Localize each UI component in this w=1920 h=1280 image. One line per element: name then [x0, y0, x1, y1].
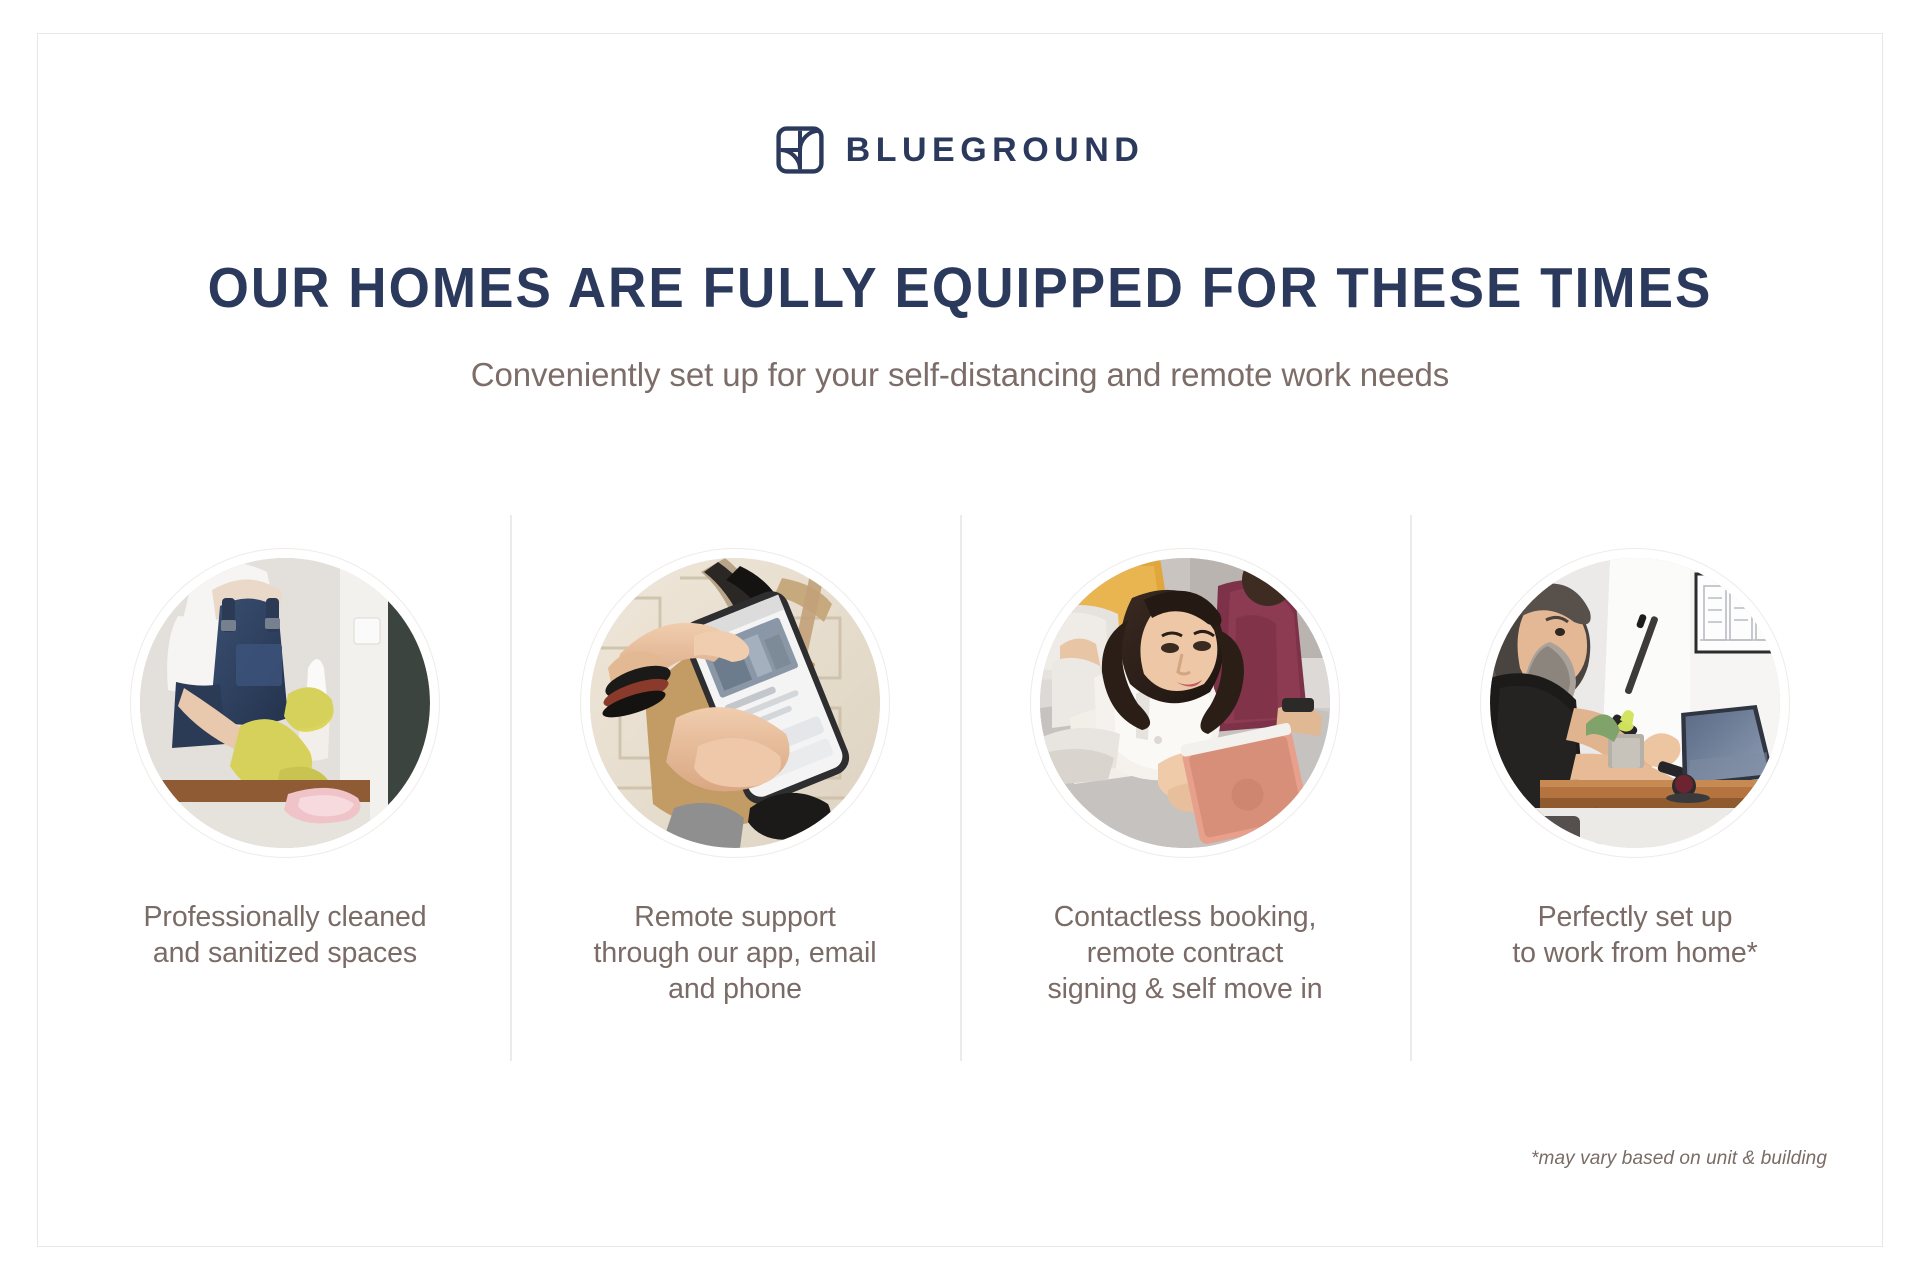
photo-phone-support [590, 558, 880, 848]
photo-phone-support-image [590, 558, 880, 848]
footnote: *may vary based on unit & building [1531, 1148, 1827, 1170]
photo-cleaning-image [140, 558, 430, 848]
blueground-logo-icon [776, 126, 824, 174]
brand-lockup: BLUEGROUND [0, 126, 1920, 174]
feature-column-2: Remote support through our app, email an… [510, 515, 960, 1065]
feature-caption: Perfectly set up to work from home* [1512, 899, 1757, 971]
feature-columns: Professionally cleaned and sanitized spa… [60, 515, 1860, 1065]
feature-column-1: Professionally cleaned and sanitized spa… [60, 515, 510, 1065]
feature-caption: Professionally cleaned and sanitized spa… [144, 899, 427, 971]
photo-work-from-home [1490, 558, 1780, 848]
brand-name: BLUEGROUND [846, 133, 1145, 167]
feature-caption: Contactless booking, remote contract sig… [1047, 899, 1322, 1008]
feature-column-4: Perfectly set up to work from home* [1410, 515, 1860, 1065]
photo-cleaning [140, 558, 430, 848]
promo-poster: BLUEGROUND OUR HOMES ARE FULLY EQUIPPED … [0, 0, 1920, 1280]
page-title: OUR HOMES ARE FULLY EQUIPPED FOR THESE T… [67, 258, 1853, 320]
photo-work-from-home-image [1490, 558, 1780, 848]
feature-caption: Remote support through our app, email an… [594, 899, 877, 1008]
page-subtitle: Conveniently set up for your self-distan… [0, 355, 1920, 395]
feature-column-3: Contactless booking, remote contract sig… [960, 515, 1410, 1065]
photo-tablet-booking-image [1040, 558, 1330, 848]
photo-tablet-booking [1040, 558, 1330, 848]
